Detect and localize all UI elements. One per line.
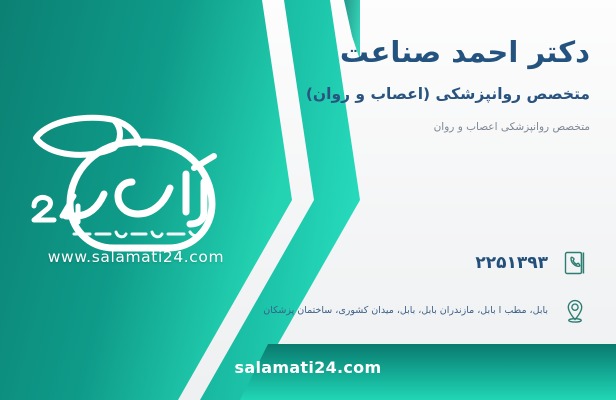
business-card: www.salamati24.com دکتر احمد صناعت متخصص…	[0, 0, 616, 400]
footer-site[interactable]: salamati24.com	[0, 358, 616, 377]
doctor-info: دکتر احمد صناعت متخصص روانپزشکی (اعصاب و…	[170, 34, 590, 135]
contact-row-phone[interactable]: ۲۲۵۱۳۹۳	[132, 246, 592, 280]
phone-number: ۲۲۵۱۳۹۳	[136, 253, 548, 273]
footer-bar: salamati24.com	[0, 344, 616, 400]
address-text: بابل، مطب ا بابل، مازندران بابل، بابل، م…	[136, 304, 548, 317]
doctor-specialty-sub: متخصص روانپزشکی اعصاب و روان	[170, 120, 590, 135]
doctor-specialty: متخصص روانپزشکی (اعصاب و روان)	[170, 84, 590, 106]
phone-book-icon	[558, 246, 592, 280]
contact-list: ۲۲۵۱۳۹۳ بابل، مطب ا بابل، مازندران بابل،…	[132, 246, 592, 342]
doctor-name: دکتر احمد صناعت	[170, 34, 590, 70]
contact-row-address[interactable]: بابل، مطب ا بابل، مازندران بابل، بابل، م…	[132, 294, 592, 328]
address-value-wrap: بابل، مطب ا بابل، مازندران بابل، بابل، م…	[132, 304, 558, 317]
phone-value-wrap: ۲۲۵۱۳۹۳	[132, 253, 558, 273]
location-pin-icon	[558, 294, 592, 328]
